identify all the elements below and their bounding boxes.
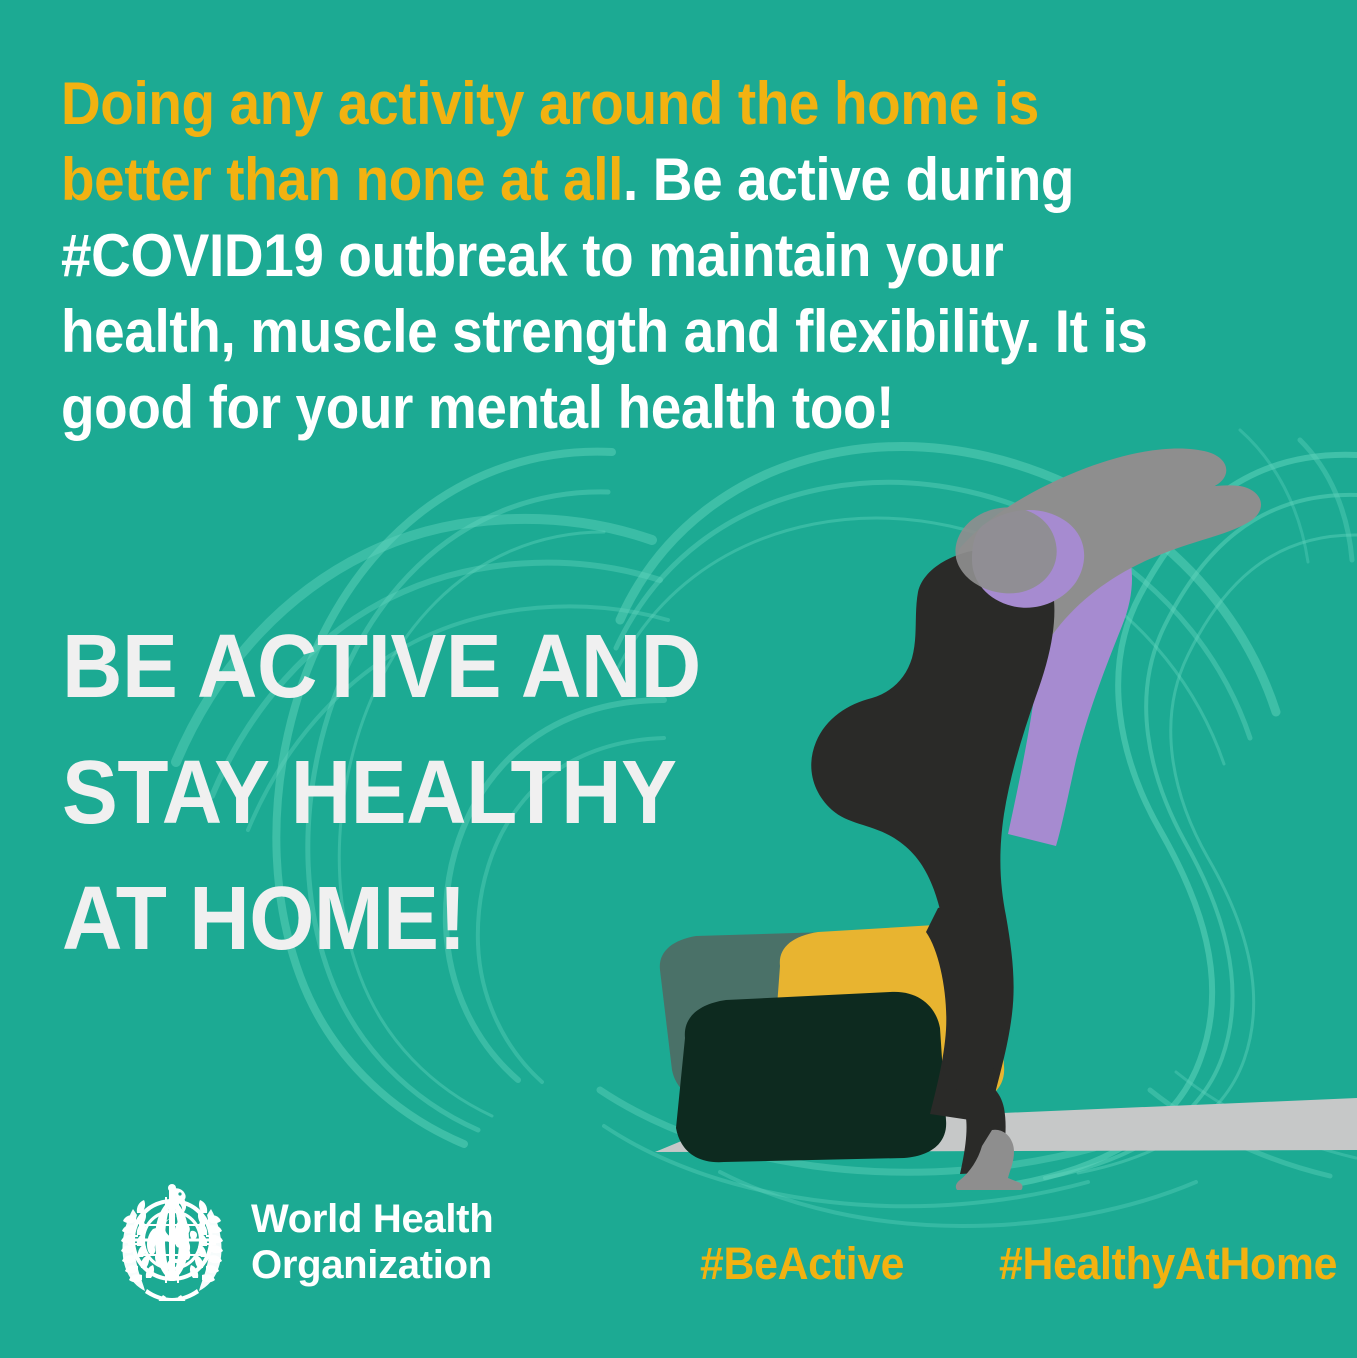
hashtag-be-active[interactable]: #BeActive — [700, 1236, 904, 1292]
head — [955, 507, 1056, 593]
who-poster: Doing any activity around the home is be… — [0, 0, 1357, 1358]
title-line-3: AT HOME! — [62, 856, 713, 982]
who-wordmark-line-2: Organization — [251, 1242, 493, 1288]
who-emblem-icon — [113, 1183, 231, 1301]
who-logo: World Health Organization — [113, 1183, 493, 1301]
exercise-illustration — [600, 430, 1357, 1190]
headscarf — [984, 503, 1132, 846]
arm-front — [990, 485, 1261, 655]
body-foot — [956, 1130, 1023, 1190]
body-leg — [952, 1080, 1006, 1174]
cushion-middle — [772, 924, 1004, 1108]
exercise-mat — [655, 1098, 1357, 1152]
body-hips — [926, 906, 1010, 1120]
cushion-front — [676, 992, 946, 1162]
who-wordmark: World Health Organization — [251, 1196, 493, 1288]
headscarf-front — [972, 510, 1084, 608]
title-line-2: STAY HEALTHY — [62, 730, 713, 856]
title-line-1: BE ACTIVE AND — [62, 604, 713, 730]
page-title: BE ACTIVE AND STAY HEALTHY AT HOME! — [62, 604, 713, 982]
body-torso — [811, 546, 1054, 1106]
headline-text: Doing any activity around the home is be… — [61, 66, 1173, 446]
hashtag-healthy-at-home[interactable]: #HealthyAtHome — [999, 1236, 1337, 1292]
arm-back — [956, 449, 1227, 598]
hashtag-row: #BeActive #HealthyAtHome — [700, 1236, 1320, 1292]
who-wordmark-line-1: World Health — [251, 1196, 493, 1242]
